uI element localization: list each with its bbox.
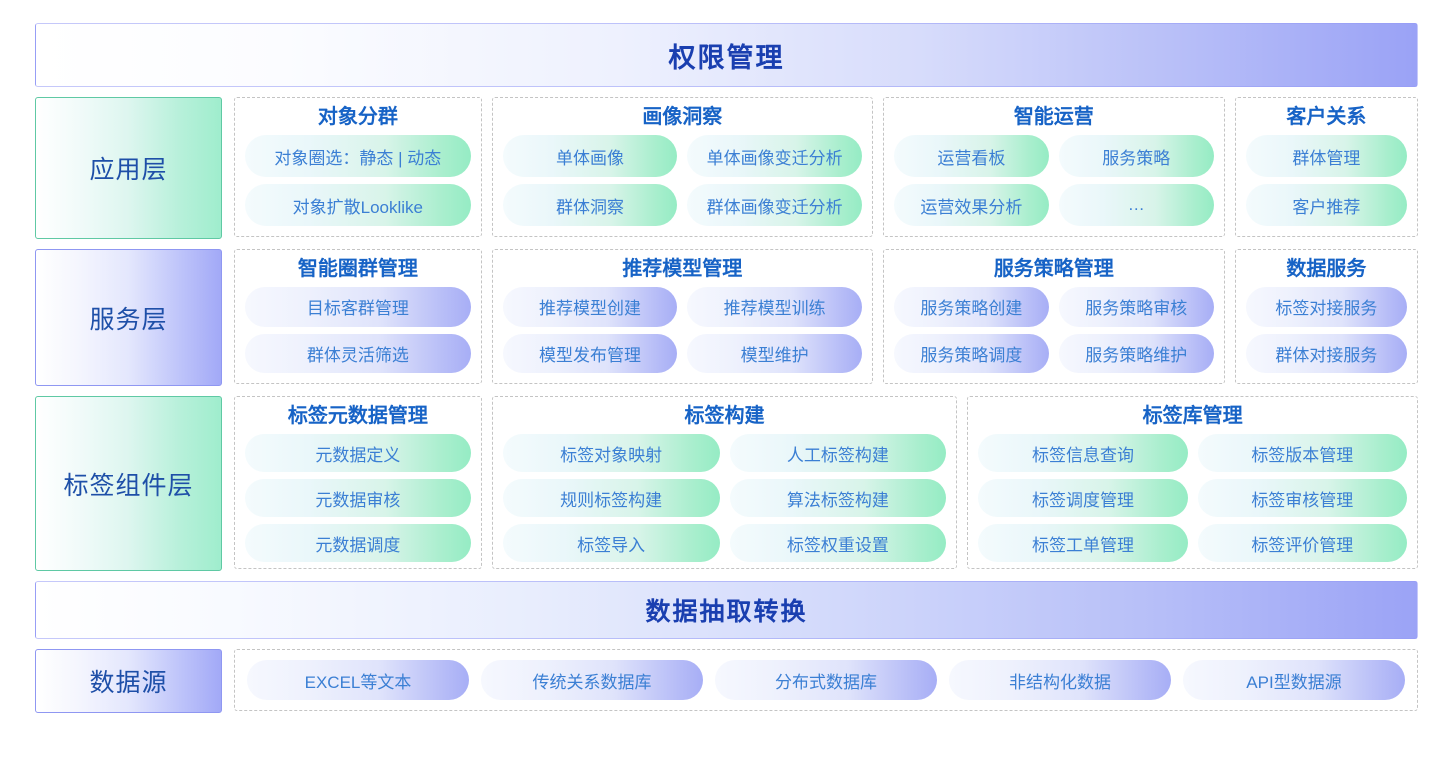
banner-title: 权限管理 (669, 36, 785, 75)
pill-grid: 标签信息查询标签版本管理标签调度管理标签审核管理标签工单管理标签评价管理 (978, 434, 1407, 562)
feature-pill[interactable]: 服务策略 (1059, 135, 1214, 177)
feature-pill[interactable]: 对象扩散Looklike (245, 184, 471, 226)
group-title: 数据服务 (1246, 258, 1407, 281)
feature-pill[interactable]: 单体画像 (503, 135, 678, 177)
pill-grid: 群体管理客户推荐 (1246, 135, 1407, 226)
feature-pill[interactable]: … (1059, 184, 1214, 226)
layer-row-3: 标签组件层标签元数据管理元数据定义元数据审核元数据调度标签构建标签对象映射人工标… (35, 396, 1418, 571)
feature-pill[interactable]: 推荐模型训练 (687, 287, 862, 327)
layer-rows-host: 应用层对象分群对象圈选：静态 | 动态对象扩散Looklike画像洞察单体画像单… (35, 97, 1418, 581)
feature-pill[interactable]: 运营效果分析 (894, 184, 1049, 226)
data-etl-banner: 数据抽取转换 (35, 581, 1418, 639)
feature-pill[interactable]: 单体画像变迁分析 (687, 135, 862, 177)
architecture-diagram: 权限管理 应用层对象分群对象圈选：静态 | 动态对象扩散Looklike画像洞察… (0, 0, 1444, 766)
layer-label-text: 标签组件层 (63, 466, 193, 502)
feature-pill[interactable]: 人工标签构建 (730, 434, 947, 472)
feature-pill[interactable]: 标签调度管理 (978, 479, 1187, 517)
feature-pill[interactable]: 服务策略维护 (1059, 334, 1214, 374)
group-title: 画像洞察 (503, 106, 862, 129)
feature-pill[interactable]: 群体管理 (1246, 135, 1407, 177)
layer-label-2: 服务层 (35, 249, 222, 386)
pill-grid: 运营看板服务策略运营效果分析… (894, 135, 1214, 226)
feature-pill[interactable]: 标签对象映射 (503, 434, 720, 472)
group-card: 服务策略管理服务策略创建服务策略审核服务策略调度服务策略维护 (883, 249, 1225, 384)
group-title: 标签构建 (503, 405, 947, 428)
group-title: 智能运营 (894, 106, 1214, 129)
permission-management-banner: 权限管理 (35, 23, 1418, 87)
pill-grid: 标签对象映射人工标签构建规则标签构建算法标签构建标签导入标签权重设置 (503, 434, 947, 562)
feature-pill[interactable]: 群体洞察 (503, 184, 678, 226)
layer-label-1: 应用层 (35, 97, 222, 239)
group-title: 标签库管理 (978, 405, 1407, 428)
datasource-group: EXCEL等文本传统关系数据库分布式数据库非结构化数据API型数据源 (234, 649, 1418, 711)
feature-pill[interactable]: 服务策略调度 (894, 334, 1049, 374)
feature-pill[interactable]: 群体画像变迁分析 (687, 184, 862, 226)
pill-grid: 单体画像单体画像变迁分析群体洞察群体画像变迁分析 (503, 135, 862, 226)
feature-pill[interactable]: 对象圈选：静态 | 动态 (245, 135, 471, 177)
layer-label-text: 服务层 (89, 300, 167, 336)
group-card: 数据服务标签对接服务群体对接服务 (1235, 249, 1418, 384)
feature-pill[interactable]: 群体对接服务 (1246, 334, 1407, 374)
feature-pill[interactable]: 模型发布管理 (503, 334, 678, 374)
feature-pill[interactable]: 标签审核管理 (1198, 479, 1407, 517)
datasource-pill[interactable]: API型数据源 (1183, 660, 1405, 700)
datasource-pill[interactable]: EXCEL等文本 (247, 660, 469, 700)
layer-label-3: 标签组件层 (35, 396, 222, 571)
pill-grid: 标签对接服务群体对接服务 (1246, 287, 1407, 373)
feature-pill[interactable]: 元数据定义 (245, 434, 471, 472)
feature-pill[interactable]: 标签版本管理 (1198, 434, 1407, 472)
feature-pill[interactable]: 群体灵活筛选 (245, 334, 471, 374)
feature-pill[interactable]: 标签对接服务 (1246, 287, 1407, 327)
group-card: 智能运营运营看板服务策略运营效果分析… (883, 97, 1225, 237)
mid-banner-title: 数据抽取转换 (645, 592, 807, 628)
group-container: 对象分群对象圈选：静态 | 动态对象扩散Looklike画像洞察单体画像单体画像… (234, 97, 1418, 239)
feature-pill[interactable]: 标签信息查询 (978, 434, 1187, 472)
datasource-pill[interactable]: 分布式数据库 (715, 660, 937, 700)
layer-label-datasource: 数据源 (35, 649, 222, 713)
feature-pill[interactable]: 运营看板 (894, 135, 1049, 177)
feature-pill[interactable]: 模型维护 (687, 334, 862, 374)
feature-pill[interactable]: 标签导入 (503, 524, 720, 562)
feature-pill[interactable]: 标签评价管理 (1198, 524, 1407, 562)
layer-label-text: 数据源 (89, 663, 167, 699)
group-title: 客户关系 (1246, 106, 1407, 129)
group-card: 客户关系群体管理客户推荐 (1235, 97, 1418, 237)
group-title: 标签元数据管理 (245, 405, 471, 428)
pill-grid: 服务策略创建服务策略审核服务策略调度服务策略维护 (894, 287, 1214, 373)
group-title: 推荐模型管理 (503, 258, 862, 281)
pill-grid: 推荐模型创建推荐模型训练模型发布管理模型维护 (503, 287, 862, 373)
feature-pill[interactable]: 标签工单管理 (978, 524, 1187, 562)
layer-label-text: 应用层 (89, 150, 167, 186)
pill-grid: 对象圈选：静态 | 动态对象扩散Looklike (245, 135, 471, 226)
feature-pill[interactable]: 元数据调度 (245, 524, 471, 562)
feature-pill[interactable]: 元数据审核 (245, 479, 471, 517)
group-card: 智能圈群管理目标客群管理群体灵活筛选 (234, 249, 482, 384)
group-title: 智能圈群管理 (245, 258, 471, 281)
layer-row-datasource: 数据源 EXCEL等文本传统关系数据库分布式数据库非结构化数据API型数据源 (35, 649, 1418, 713)
datasource-pill[interactable]: 传统关系数据库 (481, 660, 703, 700)
group-card: 标签库管理标签信息查询标签版本管理标签调度管理标签审核管理标签工单管理标签评价管… (967, 396, 1418, 569)
group-card: 画像洞察单体画像单体画像变迁分析群体洞察群体画像变迁分析 (492, 97, 873, 237)
feature-pill[interactable]: 标签权重设置 (730, 524, 947, 562)
layer-row-2: 服务层智能圈群管理目标客群管理群体灵活筛选推荐模型管理推荐模型创建推荐模型训练模… (35, 249, 1418, 386)
feature-pill[interactable]: 服务策略审核 (1059, 287, 1214, 327)
pill-grid: 元数据定义元数据审核元数据调度 (245, 434, 471, 562)
feature-pill[interactable]: 推荐模型创建 (503, 287, 678, 327)
group-container: 标签元数据管理元数据定义元数据审核元数据调度标签构建标签对象映射人工标签构建规则… (234, 396, 1418, 571)
group-card: 推荐模型管理推荐模型创建推荐模型训练模型发布管理模型维护 (492, 249, 873, 384)
group-container: 智能圈群管理目标客群管理群体灵活筛选推荐模型管理推荐模型创建推荐模型训练模型发布… (234, 249, 1418, 386)
feature-pill[interactable]: 算法标签构建 (730, 479, 947, 517)
feature-pill[interactable]: 目标客群管理 (245, 287, 471, 327)
datasource-pill[interactable]: 非结构化数据 (949, 660, 1171, 700)
feature-pill[interactable]: 规则标签构建 (503, 479, 720, 517)
feature-pill[interactable]: 客户推荐 (1246, 184, 1407, 226)
group-card: 对象分群对象圈选：静态 | 动态对象扩散Looklike (234, 97, 482, 237)
group-title: 对象分群 (245, 106, 471, 129)
group-title: 服务策略管理 (894, 258, 1214, 281)
layer-row-1: 应用层对象分群对象圈选：静态 | 动态对象扩散Looklike画像洞察单体画像单… (35, 97, 1418, 239)
group-card: 标签元数据管理元数据定义元数据审核元数据调度 (234, 396, 482, 569)
group-card: 标签构建标签对象映射人工标签构建规则标签构建算法标签构建标签导入标签权重设置 (492, 396, 958, 569)
feature-pill[interactable]: 服务策略创建 (894, 287, 1049, 327)
pill-grid: 目标客群管理群体灵活筛选 (245, 287, 471, 373)
